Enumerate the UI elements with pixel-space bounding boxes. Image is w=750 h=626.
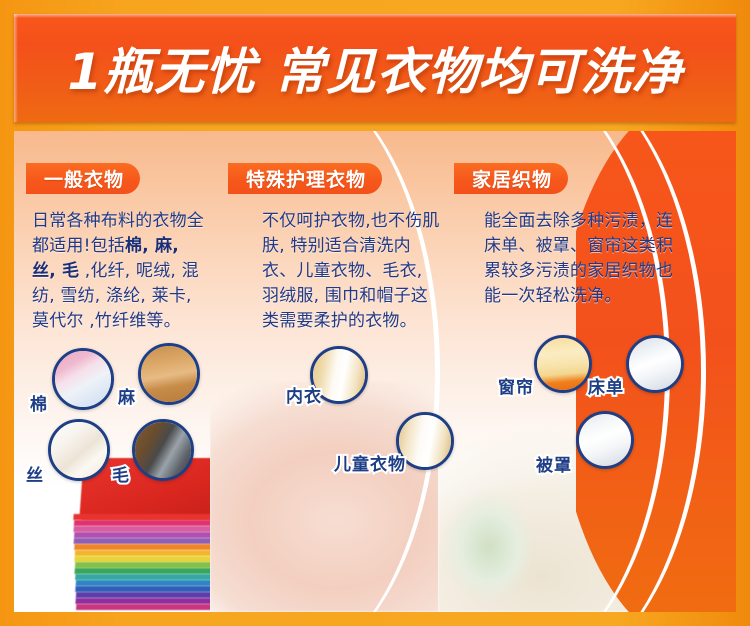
- badge-photo: [132, 419, 194, 481]
- product-detail-page: 1瓶无忧 常见衣物均可洗净: [0, 0, 750, 626]
- divider-arc-2: [350, 131, 670, 612]
- body-text-general-clothing: 日常各种布料的衣物全都适用!包括棉, 麻, 丝, 毛 ,化纤, 呢绒, 混纺, …: [32, 209, 204, 334]
- badge-wool[interactable]: 毛: [132, 419, 194, 481]
- badge-linen[interactable]: 麻: [138, 343, 200, 405]
- badge-photo: [138, 343, 200, 405]
- badge-photo: [48, 419, 110, 481]
- badge-label: 儿童衣物: [334, 450, 406, 475]
- badge-label: 毛: [112, 461, 130, 486]
- fabric-swatch-kids: [399, 415, 451, 467]
- badge-duvet-cover[interactable]: 被罩: [576, 411, 634, 469]
- body-text-run: 不仅呵护衣物,也不伤肌肤, 特别适合清洗内衣、儿童衣物、毛衣, 羽绒服, 围巾和…: [262, 211, 440, 331]
- banner-title: 1瓶无忧 常见衣物均可洗净: [14, 32, 736, 104]
- badge-bed-sheet[interactable]: 床单: [626, 335, 684, 393]
- heading-pill-special-care: 特殊护理衣物: [228, 163, 382, 194]
- badge-photo: [576, 411, 634, 469]
- fabric-swatch-cotton: [55, 351, 111, 407]
- body-text-special-care: 不仅呵护衣物,也不伤肌肤, 特别适合清洗内衣、儿童衣物、毛衣, 羽绒服, 围巾和…: [262, 209, 440, 334]
- badge-photo: [52, 348, 114, 410]
- badge-label: 麻: [118, 383, 136, 408]
- heading-label: 家居织物: [454, 165, 552, 192]
- body-text-run: 能全面去除多种污渍，连床单、被罩、窗帘这类积累较多污渍的家居织物也能一次轻松洗净…: [484, 211, 673, 306]
- badge-label: 被罩: [536, 451, 572, 476]
- badge-photo: [534, 335, 592, 393]
- body-text-home-textiles: 能全面去除多种污渍，连床单、被罩、窗帘这类积累较多污渍的家居织物也能一次轻松洗净…: [484, 209, 674, 309]
- feature-board: 一般衣物 特殊护理衣物 家居织物 日常各种布料的衣物全都适用!包括棉, 麻, 丝…: [14, 131, 736, 612]
- heading-label: 特殊护理衣物: [228, 165, 366, 192]
- badge-silk[interactable]: 丝: [48, 419, 110, 481]
- badge-cotton[interactable]: 棉: [52, 348, 114, 410]
- badge-underwear[interactable]: 内衣: [310, 346, 368, 404]
- badge-label: 丝: [26, 461, 44, 486]
- badge-curtain[interactable]: 窗帘: [534, 335, 592, 393]
- badge-kids-clothing[interactable]: 儿童衣物: [396, 412, 454, 470]
- heading-pill-general-clothing: 一般衣物: [26, 163, 140, 194]
- badge-label: 窗帘: [498, 373, 534, 398]
- header-banner: 1瓶无忧 常见衣物均可洗净: [14, 14, 736, 122]
- fabric-swatch-linen: [141, 346, 197, 402]
- fabric-swatch-curtain: [537, 338, 589, 390]
- heading-label: 一般衣物: [26, 165, 124, 192]
- badge-label: 内衣: [286, 382, 322, 407]
- fabric-swatch-duvet: [579, 414, 631, 466]
- badge-photo: [626, 335, 684, 393]
- badge-label: 棉: [30, 390, 48, 415]
- badge-label: 床单: [588, 373, 624, 398]
- fabric-swatch-sheet: [629, 338, 681, 390]
- heading-pill-home-textiles: 家居织物: [454, 163, 568, 194]
- fabric-swatch-wool: [135, 422, 191, 478]
- fabric-swatch-silk: [51, 422, 107, 478]
